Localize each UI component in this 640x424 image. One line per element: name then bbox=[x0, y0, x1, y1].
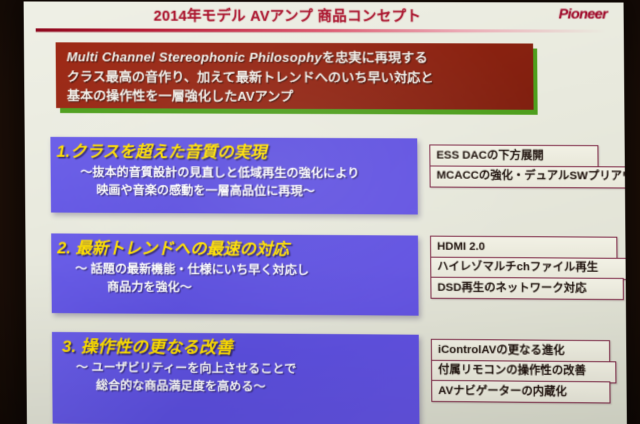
feature-chip: HDMI 2.0 bbox=[430, 236, 617, 259]
feature-chip: ESS DACの下方展開 bbox=[429, 144, 598, 167]
section-2-subline-2: 商品力を強化〜 bbox=[57, 277, 412, 297]
concept-line-2: クラス最高の音作り、加えて最新トレンドへのいち早い対応と bbox=[67, 67, 534, 88]
feature-chip: MCACCの強化・デュアルSWプリアウト bbox=[429, 165, 627, 188]
concept-line-1: Multi Channel Stereophonic Philosophyを忠実… bbox=[67, 47, 534, 68]
section-2-heading: 2. 最新トレンドへの最速の対応 bbox=[57, 237, 412, 261]
header-divider-rule-secondary bbox=[36, 31, 503, 33]
section-1-subline-2: 映画や音楽の感動を一層高品位に再現〜 bbox=[57, 181, 412, 201]
section-1-heading: 1.クラスを超えた音質の実現 bbox=[56, 141, 411, 165]
feature-chip: ハイレゾマルチchファイル再生 bbox=[430, 256, 627, 279]
concept-line-3: 基本の操作性を一層強化したAVアンプ bbox=[67, 86, 534, 107]
feature-chip-group-1: ESS DACの下方展開 MCACCの強化・デュアルSWプリアウト bbox=[429, 144, 627, 186]
feature-chip-group-2: HDMI 2.0 ハイレゾマルチchファイル再生 DSD再生のネットワーク対応 bbox=[430, 236, 627, 300]
slide-perspective-wrapper: 2014年モデル AVアンプ 商品コンセプト Pioneer Multi Cha… bbox=[24, 1, 627, 424]
pioneer-logo: Pioneer bbox=[558, 6, 607, 21]
feature-chip-group-3: iControlAVの更なる進化 付属リモコンの操作性の改善 AVナビゲーターの… bbox=[431, 339, 627, 403]
slide-header: 2014年モデル AVアンプ 商品コンセプト Pioneer bbox=[24, 1, 624, 33]
section-block-3: 3. 操作性の更なる改善 〜 ユーザビリティーを向上させることで 総合的な商品満… bbox=[52, 332, 420, 424]
concept-line-1-japanese: を忠実に再現する bbox=[322, 50, 428, 65]
section-3-heading: 3. 操作性の更なる改善 bbox=[58, 336, 413, 361]
feature-chip: AVナビゲーターの内蔵化 bbox=[431, 380, 610, 404]
section-3-subline-2: 総合的な商品満足度を高める〜 bbox=[58, 376, 413, 397]
section-block-1: 1.クラスを超えた音質の実現 〜抜本的音質設計の見直しと低域再生の強化により 映… bbox=[50, 137, 417, 215]
concept-line-1-english: Multi Channel Stereophonic Philosophy bbox=[67, 49, 322, 65]
feature-chip: iControlAVの更なる進化 bbox=[431, 339, 610, 362]
section-1-subline-1: 〜抜本的音質設計の見直しと低域再生の強化により bbox=[57, 163, 412, 183]
page-title: 2014年モデル AVアンプ 商品コンセプト bbox=[24, 4, 624, 26]
concept-statement-box: Multi Channel Stereophonic Philosophyを忠実… bbox=[56, 42, 534, 109]
projected-slide-photo: 2014年モデル AVアンプ 商品コンセプト Pioneer Multi Cha… bbox=[0, 0, 640, 424]
section-2-subline-1: 〜 話題の最新機能・仕様にいち早く対応し bbox=[57, 259, 412, 279]
section-block-2: 2. 最新トレンドへの最速の対応 〜 話題の最新機能・仕様にいち早く対応し 商品… bbox=[51, 233, 418, 315]
feature-chip: DSD再生のネットワーク対応 bbox=[430, 277, 624, 300]
presentation-slide: 2014年モデル AVアンプ 商品コンセプト Pioneer Multi Cha… bbox=[24, 1, 627, 424]
